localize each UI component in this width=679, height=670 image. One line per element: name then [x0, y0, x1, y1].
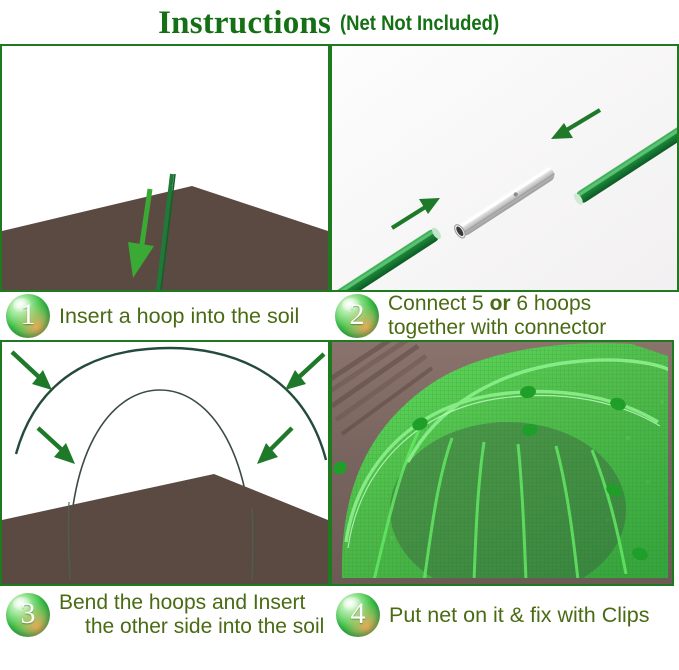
step-2-photo [330, 44, 679, 292]
step-3-caption-line-1: Bend the hoops and Insert [59, 591, 305, 614]
step-3-badge: 3 [6, 593, 50, 637]
step-4-photo [330, 340, 674, 586]
step-2-caption-line-2: together with connector [388, 316, 606, 339]
step-3-caption-text: Bend the hoops and Insert the other side… [59, 591, 324, 638]
step-2-bold-or: or [490, 292, 511, 315]
step-3-caption-line-2: the other side into the soil [59, 615, 324, 639]
step-1-caption: 1 Insert a hoop into the soil [0, 292, 330, 340]
step-1-caption-line-1: Insert a hoop into the soil [59, 304, 299, 328]
panel-row-top [0, 44, 679, 292]
page-title-main: Instructions [158, 7, 331, 40]
step-4-badge: 4 [336, 593, 380, 637]
step-1-caption-text: Insert a hoop into the soil [59, 304, 299, 328]
step-1-number: 1 [6, 294, 50, 338]
step-1-drawing [2, 46, 328, 290]
step-1-illustration [0, 44, 330, 292]
step-4-drawing [332, 342, 672, 584]
step-3-caption: 3 Bend the hoops and Insert the other si… [0, 586, 330, 644]
step-4-caption-text: Put net on it & fix with Clips [389, 603, 650, 627]
caption-row-bottom: 3 Bend the hoops and Insert the other si… [0, 586, 679, 644]
step-2-caption-line-1: Connect 5 or 6 hoops [388, 292, 591, 315]
step-3-illustration [0, 340, 330, 586]
step-4-caption: 4 Put net on it & fix with Clips [330, 586, 674, 644]
step-4-number: 4 [336, 593, 380, 637]
step-1-badge: 1 [6, 294, 50, 338]
instruction-grid: 1 Insert a hoop into the soil 2 Connect … [0, 44, 679, 644]
page-title: Instructions (Net Not Included) [0, 0, 679, 44]
step-2-drawing [332, 46, 677, 290]
step-2-badge: 2 [335, 294, 379, 338]
step-3-drawing [2, 342, 328, 584]
buried-hoop-right [252, 508, 253, 580]
step-2-caption: 2 Connect 5 or 6 hoops together with con… [330, 292, 679, 340]
page-title-note: (Net Not Included) [340, 13, 499, 34]
caption-row-top: 1 Insert a hoop into the soil 2 Connect … [0, 292, 679, 340]
step-2-number: 2 [335, 294, 379, 338]
step-2-caption-text: Connect 5 or 6 hoops together with conne… [388, 292, 606, 339]
step-4-caption-line-1: Put net on it & fix with Clips [389, 603, 650, 627]
step-3-number: 3 [6, 593, 50, 637]
panel-row-bottom [0, 340, 679, 586]
